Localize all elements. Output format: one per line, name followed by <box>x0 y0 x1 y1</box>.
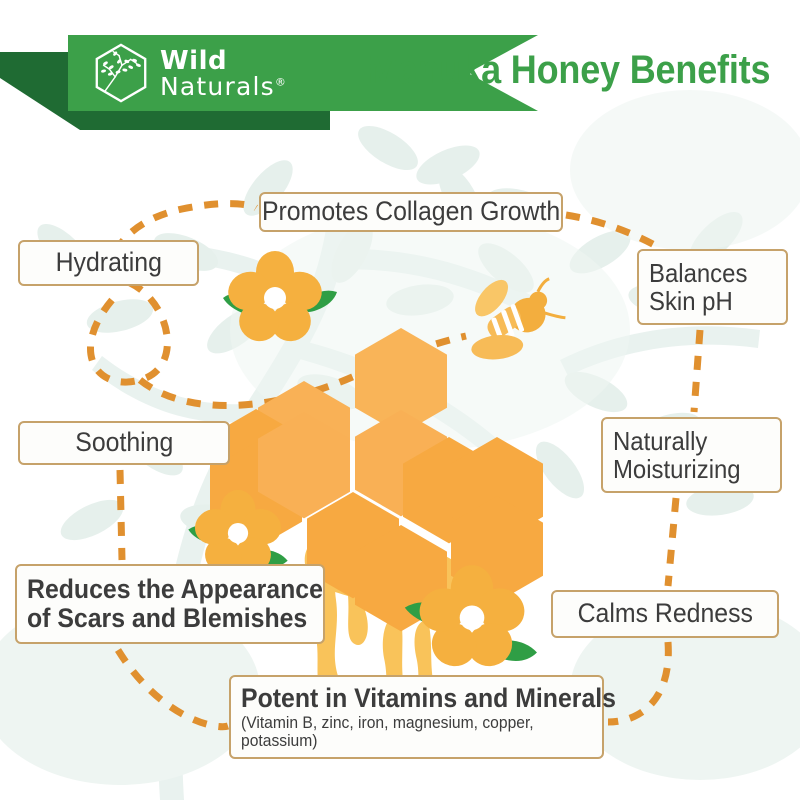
benefit-label-line2: Moisturizing <box>613 455 741 483</box>
benefit-box-naturally-moisturizing[interactable]: Naturally Moisturizing <box>601 417 782 493</box>
benefit-label: Calms Redness <box>577 599 752 628</box>
brand-name-line1: Wild <box>160 48 287 74</box>
brand-name-word: Naturals <box>160 72 275 101</box>
benefit-box-balances-skin-ph[interactable]: Balances Skin pH <box>637 249 788 325</box>
benefit-box-calms-redness[interactable]: Calms Redness <box>551 590 779 638</box>
benefit-box-reduces-scars[interactable]: Reduces the Appearance of Scars and Blem… <box>15 564 325 644</box>
infographic-canvas: Wild Naturals® Manuka Honey Benefits Pro… <box>0 0 800 800</box>
page-title: Manuka Honey Benefits <box>368 48 746 93</box>
benefit-label-line1: Naturally <box>613 427 707 455</box>
brand-logo[interactable]: Wild Naturals® <box>90 42 287 104</box>
benefit-box-hydrating[interactable]: Hydrating <box>18 240 199 286</box>
benefit-sublabel-line2: potassium) <box>241 732 317 750</box>
benefit-label-line2: Skin pH <box>649 287 733 315</box>
benefit-label: Hydrating <box>55 248 161 277</box>
benefit-box-vitamins-minerals[interactable]: Potent in Vitamins and Minerals (Vitamin… <box>229 675 604 759</box>
flower-icon-top <box>223 251 337 348</box>
benefit-sublabel-line1: (Vitamin B, zinc, iron, magnesium, coppe… <box>241 714 534 732</box>
tree-in-hexagon-icon <box>90 42 152 104</box>
benefit-label-line1: Balances <box>649 259 747 287</box>
benefit-box-soothing[interactable]: Soothing <box>18 421 230 465</box>
benefit-label: Soothing <box>75 428 173 457</box>
benefit-label-line2: of Scars and Blemishes <box>27 604 307 633</box>
bee-icon <box>442 254 576 379</box>
benefit-box-collagen[interactable]: Promotes Collagen Growth <box>259 192 563 232</box>
benefit-label: Promotes Collagen Growth <box>262 197 560 226</box>
brand-name: Wild Naturals® <box>160 48 287 99</box>
benefit-label-line1: Reduces the Appearance <box>27 575 323 604</box>
header: Wild Naturals® Manuka Honey Benefits <box>0 0 800 150</box>
registered-trademark-icon: ® <box>275 75 287 88</box>
brand-name-line2: Naturals® <box>160 74 287 99</box>
benefit-label: Potent in Vitamins and Minerals <box>241 684 616 713</box>
